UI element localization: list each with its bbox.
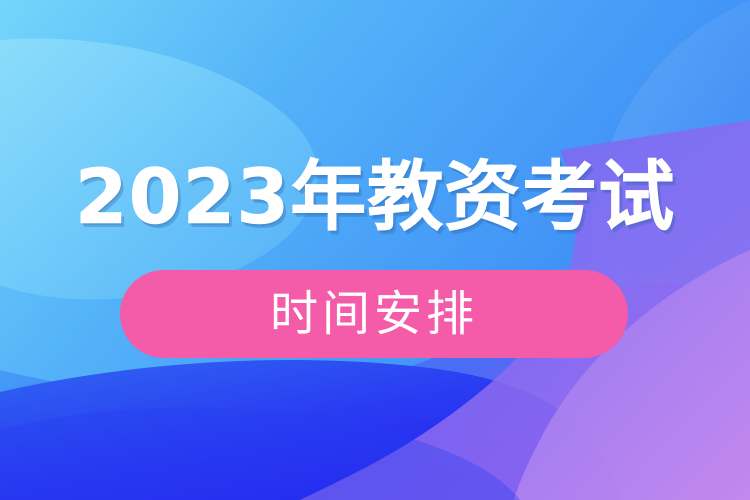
page-title: 2023年教资考试 — [0, 152, 750, 242]
banner-graphic: 2023年教资考试 时间安排 — [0, 0, 750, 500]
time-schedule-pill[interactable]: 时间安排 — [120, 270, 628, 358]
time-schedule-pill-label: 时间安排 — [270, 288, 478, 340]
banner-content: 2023年教资考试 时间安排 — [0, 0, 750, 500]
